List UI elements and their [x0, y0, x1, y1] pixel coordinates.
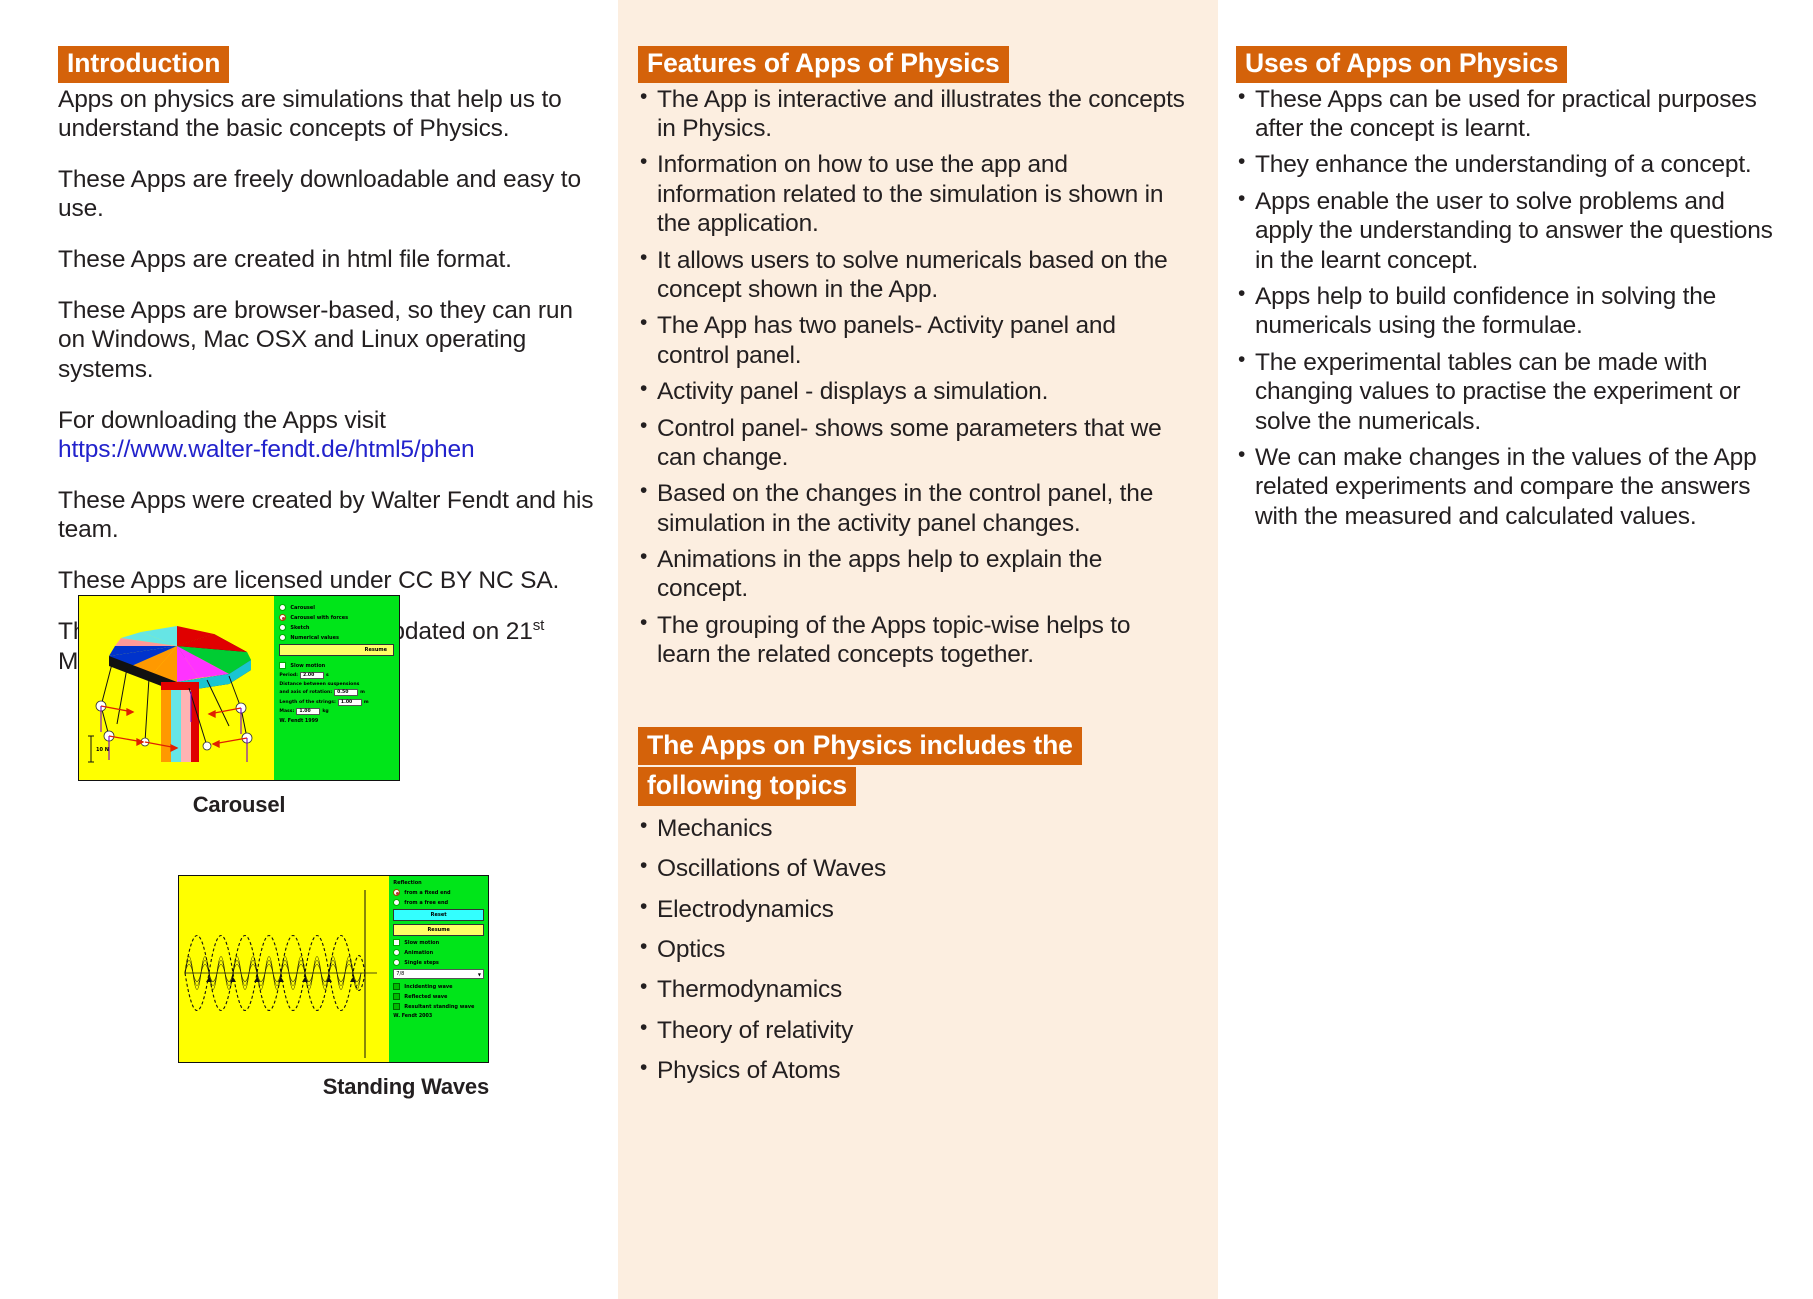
waves-resume-button[interactable]: Resume [393, 924, 484, 936]
radio-label: Numerical values [290, 635, 339, 641]
radio-icon[interactable] [279, 624, 286, 631]
checkbox-checked-icon[interactable] [393, 983, 400, 990]
topics-heading-text-1: The Apps on Physics includes the [638, 727, 1082, 766]
column-introduction: Introduction Apps on physics are simulat… [0, 0, 618, 1299]
figure-carousel: 10 N Carousel Carousel with forces Sketc… [78, 595, 400, 818]
checkbox-label: Incidenting wave [404, 984, 452, 990]
poster-root: Introduction Apps on physics are simulat… [0, 0, 1813, 1299]
list-item: Activity panel - displays a simulation. [638, 377, 1188, 406]
field-value[interactable]: 1.00 [296, 708, 320, 715]
intro-paragraph-2: These Apps are freely downloadable and e… [58, 165, 596, 223]
waves-radio-1[interactable]: from a free end [393, 899, 484, 906]
field-unit: m [360, 690, 365, 695]
carousel-caption: Carousel [78, 792, 400, 818]
waves-check-incidenting[interactable]: Incidenting wave [393, 983, 484, 990]
waves-radio-0[interactable]: from a fixed end [393, 889, 484, 896]
carousel-radio-3[interactable]: Numerical values [279, 634, 394, 641]
figure-standing-waves: Reflection from a fixed end from a free … [178, 875, 489, 1100]
list-item: Theory of relativity [638, 1016, 1188, 1045]
standing-waves-app-screenshot[interactable]: Reflection from a fixed end from a free … [178, 875, 489, 1063]
carousel-credit: W. Fendt 1999 [279, 719, 394, 724]
license-paragraph: These Apps are licensed under CC BY NC S… [58, 566, 596, 595]
radio-icon[interactable] [393, 949, 400, 956]
radio-label: Sketch [290, 625, 309, 631]
list-item: The App has two panels- Activity panel a… [638, 311, 1188, 370]
field-label: Period: [279, 673, 298, 678]
section-heading-topics-line2: following topics [638, 767, 1188, 806]
standing-waves-control-panel[interactable]: Reflection from a fixed end from a free … [389, 876, 488, 1062]
radio-icon[interactable] [279, 634, 286, 641]
field-value[interactable]: 2.00 [300, 672, 324, 679]
carousel-field-mass[interactable]: Mass:1.00kg [279, 708, 394, 715]
carousel-slow-motion-checkbox[interactable]: Slow motion [279, 662, 394, 669]
select-value: 7/8 [396, 971, 404, 977]
field-label: Mass: [279, 709, 294, 714]
column-features: Features of Apps of Physics The App is i… [618, 0, 1218, 1299]
waves-credit: W. Fendt 2003 [393, 1014, 484, 1019]
waves-fraction-select[interactable]: 7/8▼ [393, 969, 484, 979]
list-item: Optics [638, 935, 1188, 964]
section-heading-features: Features of Apps of Physics [638, 46, 1009, 83]
carousel-field-distance-label: Distance between suspensions [279, 682, 394, 687]
download-paragraph: For downloading the Apps visit https://w… [58, 406, 596, 464]
waves-check-reflected[interactable]: Reflected wave [393, 993, 484, 1000]
list-item: Electrodynamics [638, 895, 1188, 924]
carousel-control-panel[interactable]: Carousel Carousel with forces Sketch Num… [274, 596, 399, 780]
topics-list: Mechanics Oscillations of Waves Electrod… [638, 814, 1188, 1086]
list-item: Thermodynamics [638, 975, 1188, 1004]
field-unit: kg [322, 709, 328, 714]
creators-paragraph: These Apps were created by Walter Fendt … [58, 486, 596, 544]
field-unit: s [326, 673, 329, 678]
list-item: Based on the changes in the control pane… [638, 479, 1188, 538]
radio-icon[interactable] [393, 959, 400, 966]
chevron-down-icon[interactable]: ▼ [478, 972, 481, 977]
updated-day: 21 [506, 619, 533, 646]
carousel-field-axis[interactable]: and axis of rotation:0.50m [279, 689, 394, 696]
intro-paragraph-4: These Apps are browser-based, so they ca… [58, 296, 596, 383]
list-item: The experimental tables can be made with… [1236, 348, 1783, 436]
waves-check-resultant[interactable]: Resultant standing wave [393, 1003, 484, 1010]
list-item: The grouping of the Apps topic-wise help… [638, 611, 1188, 670]
section-heading-introduction: Introduction [58, 46, 229, 83]
carousel-resume-button[interactable]: Resume [279, 644, 394, 656]
field-value[interactable]: 0.50 [334, 689, 358, 696]
checkbox-label: Slow motion [404, 940, 439, 946]
carousel-illustration: 10 N [79, 596, 274, 780]
carousel-field-period[interactable]: Period:2.00s [279, 672, 394, 679]
carousel-activity-panel: 10 N [79, 596, 274, 780]
features-bullet-list: The App is interactive and illustrates t… [638, 85, 1188, 670]
field-unit: m [364, 700, 369, 705]
checkbox-checked-icon[interactable] [393, 1003, 400, 1010]
list-item: They enhance the understanding of a conc… [1236, 150, 1783, 179]
section-heading-uses: Uses of Apps on Physics [1236, 46, 1567, 83]
list-item: Animations in the apps help to explain t… [638, 545, 1188, 604]
waves-check-slow-motion[interactable]: Slow motion [393, 939, 484, 946]
column-uses: Uses of Apps on Physics These Apps can b… [1218, 0, 1813, 1299]
list-item: Apps enable the user to solve problems a… [1236, 187, 1783, 275]
field-value[interactable]: 1.00 [338, 699, 362, 706]
list-item: Apps help to build confidence in solving… [1236, 282, 1783, 341]
section-heading-topics-line1: The Apps on Physics includes the [638, 727, 1188, 766]
radio-label: from a free end [404, 900, 448, 906]
standing-waves-activity-panel [179, 876, 389, 1062]
list-item: We can make changes in the values of the… [1236, 443, 1783, 531]
list-item: Mechanics [638, 814, 1188, 843]
carousel-app-screenshot[interactable]: 10 N Carousel Carousel with forces Sketc… [78, 595, 400, 781]
radio-label: from a fixed end [404, 890, 450, 896]
uses-bullet-list: These Apps can be used for practical pur… [1236, 85, 1783, 531]
radio-selected-icon[interactable] [279, 614, 286, 621]
standing-waves-caption: Standing Waves [178, 1074, 489, 1100]
topics-heading-text-2: following topics [638, 767, 856, 806]
radio-label: Carousel [290, 605, 315, 611]
checkbox-label: Resultant standing wave [404, 1004, 474, 1010]
carousel-scale-label: 10 N [96, 747, 109, 753]
waves-check-single-steps[interactable]: Single steps [393, 959, 484, 966]
carousel-radio-0[interactable]: Carousel [279, 604, 394, 611]
download-label: For downloading the Apps visit [58, 407, 386, 434]
list-item: It allows users to solve numericals base… [638, 246, 1188, 305]
field-label: and axis of rotation: [279, 690, 332, 695]
checkbox-label: Single steps [404, 960, 439, 966]
updated-ordinal: st [533, 617, 545, 634]
list-item: Control panel- shows some parameters tha… [638, 414, 1188, 473]
standing-waves-illustration [179, 876, 389, 1062]
list-item: Oscillations of Waves [638, 854, 1188, 883]
intro-paragraph-3: These Apps are created in html file form… [58, 245, 596, 274]
intro-paragraph-1: Apps on physics are simulations that hel… [58, 85, 596, 143]
field-label: Distance between suspensions [279, 682, 359, 687]
checkbox-label: Animation [404, 950, 433, 956]
radio-label: Carousel with forces [290, 615, 348, 621]
list-item: The App is interactive and illustrates t… [638, 85, 1188, 144]
field-label: Length of the strings: [279, 700, 336, 705]
checkbox-checked-icon[interactable] [393, 993, 400, 1000]
radio-selected-icon[interactable] [393, 889, 400, 896]
carousel-field-strings[interactable]: Length of the strings:1.00m [279, 699, 394, 706]
waves-reset-button[interactable]: Reset [393, 909, 484, 921]
checkbox-label: Slow motion [290, 663, 325, 669]
carousel-radio-2[interactable]: Sketch [279, 624, 394, 631]
checkbox-label: Reflected wave [404, 994, 447, 1000]
carousel-radio-1[interactable]: Carousel with forces [279, 614, 394, 621]
reflection-group-title: Reflection [393, 880, 484, 886]
download-link[interactable]: https://www.walter-fendt.de/html5/phen [58, 436, 474, 463]
checkbox-icon[interactable] [393, 939, 400, 946]
radio-icon[interactable] [279, 604, 286, 611]
list-item: Information on how to use the app and in… [638, 150, 1188, 238]
list-item: Physics of Atoms [638, 1056, 1188, 1085]
checkbox-icon[interactable] [279, 662, 286, 669]
radio-icon[interactable] [393, 899, 400, 906]
list-item: These Apps can be used for practical pur… [1236, 85, 1783, 144]
waves-check-animation[interactable]: Animation [393, 949, 484, 956]
